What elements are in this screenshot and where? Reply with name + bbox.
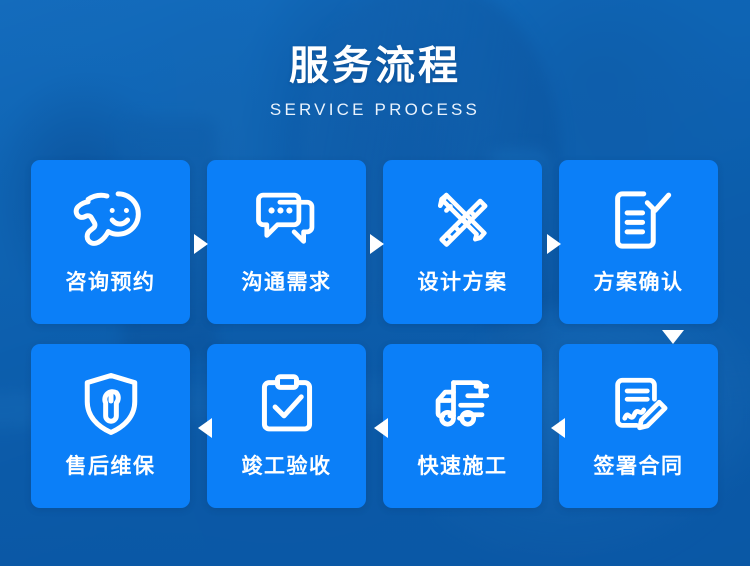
document-check-icon <box>601 182 677 258</box>
process-row-bottom: 售后维保 竣工验收 <box>31 344 720 508</box>
delivery-truck-icon <box>425 366 501 442</box>
process-step-label: 快速施工 <box>418 456 508 477</box>
process-step-contract[interactable]: 签署合同 <box>559 344 718 508</box>
arrow-right-icon <box>194 234 208 254</box>
process-step-requirements[interactable]: 沟通需求 <box>207 160 366 324</box>
arrow-right-icon <box>370 234 384 254</box>
banner-header: 服务流程 SERVICE PROCESS <box>0 44 750 120</box>
process-row-top: 咨询预约 沟通需求 <box>31 160 720 324</box>
arrow-right-icon <box>547 234 561 254</box>
contract-signature-icon <box>601 366 677 442</box>
arrow-down-icon <box>662 330 684 344</box>
process-step-label: 方案确认 <box>594 272 684 293</box>
process-step-label: 沟通需求 <box>242 272 332 293</box>
process-step-design[interactable]: 设计方案 <box>383 160 542 324</box>
process-step-label: 签署合同 <box>594 456 684 477</box>
service-process-banner: 服务流程 SERVICE PROCESS 咨询预约 <box>0 0 750 566</box>
process-step-acceptance[interactable]: 竣工验收 <box>207 344 366 508</box>
pencil-ruler-icon <box>425 182 501 258</box>
shield-wrench-icon <box>73 366 149 442</box>
process-step-label: 售后维保 <box>66 456 156 477</box>
process-step-construction[interactable]: 快速施工 <box>383 344 542 508</box>
phone-support-icon <box>73 182 149 258</box>
process-step-label: 竣工验收 <box>242 456 332 477</box>
process-step-label: 咨询预约 <box>66 272 156 293</box>
process-step-maintenance[interactable]: 售后维保 <box>31 344 190 508</box>
arrow-left-icon <box>551 418 565 438</box>
process-grid: 咨询预约 沟通需求 <box>31 160 720 508</box>
process-step-plan-confirm[interactable]: 方案确认 <box>559 160 718 324</box>
process-step-label: 设计方案 <box>418 272 508 293</box>
clipboard-check-icon <box>249 366 325 442</box>
page-title: 服务流程 <box>0 44 750 88</box>
arrow-left-icon <box>198 418 212 438</box>
process-step-consultation[interactable]: 咨询预约 <box>31 160 190 324</box>
page-subtitle: SERVICE PROCESS <box>0 100 750 120</box>
arrow-left-icon <box>374 418 388 438</box>
chat-bubbles-icon <box>249 182 325 258</box>
